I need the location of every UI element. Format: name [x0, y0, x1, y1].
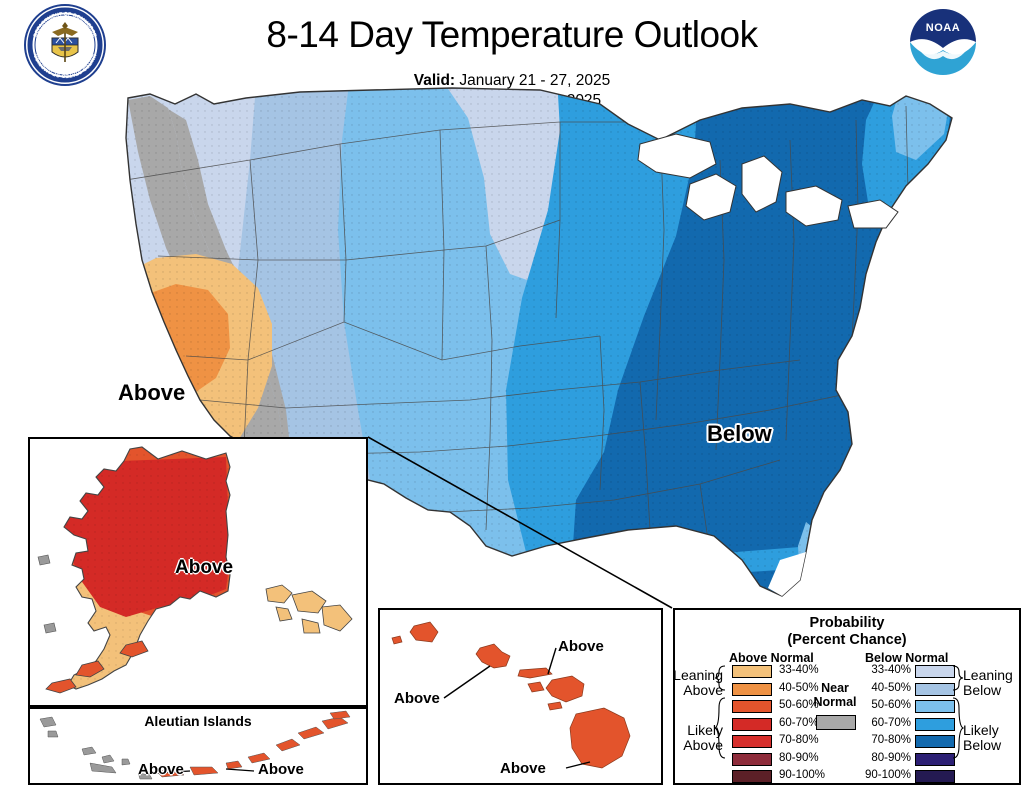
hawaii-label-oahu: Above	[394, 690, 440, 707]
hawaii-inset-panel: Above Above Above	[378, 608, 663, 785]
legend-panel: Probability (Percent Chance) Above Norma…	[673, 608, 1021, 785]
alaska-label-above: Above	[175, 557, 233, 579]
aleutian-islands-inset-panel: Aleutian Islands	[28, 707, 368, 785]
aleutian-label-above-right: Above	[258, 761, 304, 778]
legend-braces	[675, 610, 1023, 787]
alaska-inset-panel: Above	[28, 437, 368, 707]
outlook-map-page: DEPARTMENT OF COMMERCE UNITED STATES OF …	[0, 0, 1024, 791]
map-label-above-west: Above	[118, 380, 185, 406]
map-label-below-east: Below	[707, 421, 772, 447]
hawaii-label-maui: Above	[558, 638, 604, 655]
aleutian-label-above-left: Above	[138, 761, 184, 778]
page-title: 8-14 Day Temperature Outlook	[0, 14, 1024, 56]
aleutian-map	[30, 709, 366, 783]
hawaii-label-bigisland: Above	[500, 760, 546, 777]
